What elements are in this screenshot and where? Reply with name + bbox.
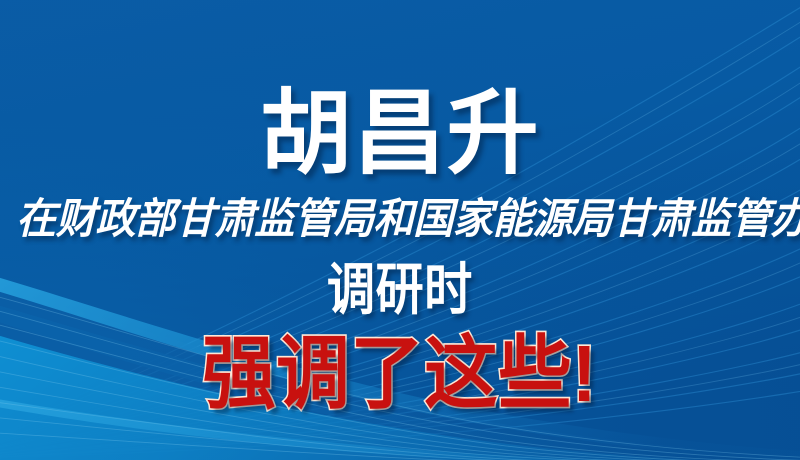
- poster-headline: 胡昌升: [0, 88, 800, 180]
- poster-occasion-text: 调研时: [327, 262, 473, 318]
- poster-occasion: 调研时: [0, 262, 800, 318]
- poster-text-block: 胡昌升 在财政部甘肃监管局和国家能源局甘肃监管办 调研时 强调了这些!: [0, 0, 800, 460]
- poster-emphasis-text: 强调了这些!: [203, 334, 598, 414]
- poster-subtitle: 在财政部甘肃监管局和国家能源局甘肃监管办: [16, 198, 784, 240]
- poster-emphasis: 强调了这些!: [0, 334, 800, 414]
- poster-canvas: 胡昌升 在财政部甘肃监管局和国家能源局甘肃监管办 调研时 强调了这些!: [0, 0, 800, 460]
